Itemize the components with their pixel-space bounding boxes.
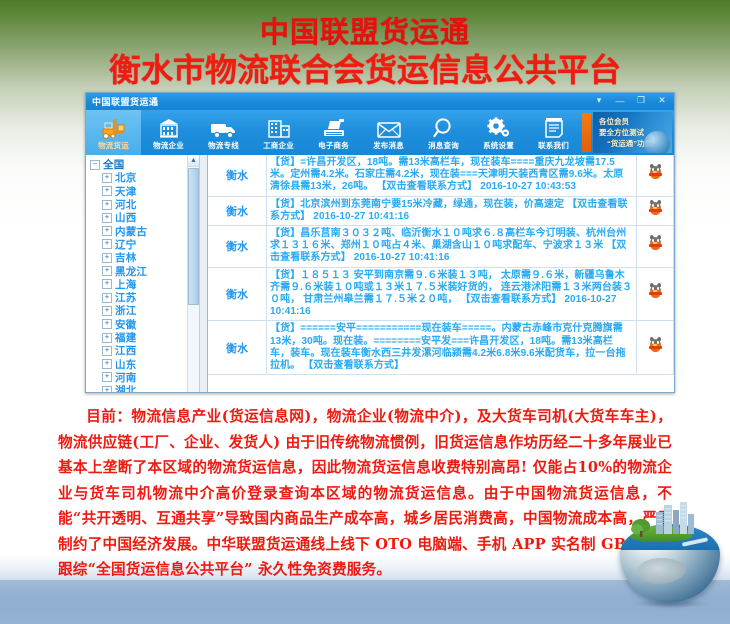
tree-node-jilin[interactable]: +吉林 — [89, 251, 199, 264]
message-datetime: 2016-10-27 10:41:16 — [313, 211, 409, 222]
qq-icon[interactable] — [649, 165, 662, 180]
row-contact[interactable] — [637, 267, 674, 321]
row-contact[interactable] — [637, 196, 674, 225]
tree-toggle-icon[interactable]: + — [102, 239, 112, 249]
qq-icon[interactable] — [649, 236, 662, 251]
scroll-up-icon[interactable]: ▲ — [188, 155, 199, 167]
tree-node-heilongjiang[interactable]: +黑龙江 — [89, 264, 199, 277]
toolbar-item-logistics-company[interactable]: 物流企业 — [141, 110, 196, 155]
truck-icon — [210, 115, 238, 139]
freight-message-grid: 衡水 【货】=许昌开发区，18吨。需13米高栏车，现在装车====重庆九龙坡需1… — [208, 155, 674, 392]
table-row[interactable]: 衡水 【货】======安平===========现在装车=====。内蒙古赤峰… — [208, 321, 674, 375]
table-row[interactable]: 衡水 【货】昌乐莒南３０３２吨、临沂衡水１０吨求６.８高栏车今订明装、杭州台州求… — [208, 226, 674, 268]
headline-line-1: 中国联盟货运通 — [0, 14, 730, 50]
paragraph-text: 目前：物流信息产业(货运信息网)，物流企业(物流中介)，及大货车司机(大货车车主… — [58, 408, 672, 578]
row-message: 【货】１８５１３ 安平到南京需９.６米装１３吨， 太原需９.６米，新疆乌鲁木齐需… — [267, 267, 637, 321]
row-city: 衡水 — [208, 226, 267, 268]
envelope-icon — [376, 115, 402, 139]
toolbar-item-logistics-line[interactable]: 物流专线 — [196, 110, 251, 155]
qq-icon[interactable] — [649, 338, 662, 353]
toolbar-label: 联系我们 — [538, 140, 569, 151]
toolbar-orange-divider — [582, 113, 591, 152]
main-toolbar: 物流货运 物流企业 — [86, 110, 674, 155]
window-body: − 全国 +北京 +天津 +河北 +山西 +内蒙古 +辽宁 +吉林 +黑龙江 +… — [86, 155, 674, 392]
window-title: 中国联盟货运通 — [92, 95, 159, 108]
row-city: 衡水 — [208, 267, 267, 321]
toolbar-label: 工商企业 — [263, 140, 294, 151]
tree-node-hubei[interactable]: +湖北 — [89, 384, 199, 392]
tree-scrollbar[interactable]: ▲ — [187, 155, 199, 392]
ecommerce-icon — [321, 115, 347, 139]
tree-node-root[interactable]: − 全国 — [89, 158, 199, 171]
toolbar-label: 物流货运 — [98, 140, 129, 151]
page-title: 中国联盟货运通 衡水市物流联合会货运信息公共平台 — [0, 14, 730, 90]
toolbar-item-system-settings[interactable]: 系统设置 — [471, 110, 526, 155]
row-message: 【货】北京滨州到东莞南宁要15米冷藏，绿通，现在装，价高速定 【双击查看联系方式… — [267, 196, 637, 225]
minimize-icon[interactable]: — — [610, 93, 630, 108]
city-skyline-icon — [654, 502, 704, 534]
row-message: 【货】=许昌开发区，18吨。需13米高栏车，现在装车====重庆九龙坡需17.5… — [267, 155, 637, 196]
application-window: 中国联盟货运通 ▾ — ❐ ✕ 物流货运 — [85, 92, 675, 393]
tree-node-fujian[interactable]: +福建 — [89, 331, 199, 344]
tree-node-hebei[interactable]: +河北 — [89, 198, 199, 211]
tree-toggle-icon[interactable]: + — [102, 306, 112, 316]
region-tree: − 全国 +北京 +天津 +河北 +山西 +内蒙古 +辽宁 +吉林 +黑龙江 +… — [86, 155, 200, 392]
row-contact[interactable] — [637, 321, 674, 375]
tree-node-shandong[interactable]: +山东 — [89, 357, 199, 370]
tree-toggle-icon[interactable]: + — [102, 333, 112, 343]
tree-toggle-icon[interactable]: + — [102, 186, 112, 196]
tree-toggle-icon[interactable]: + — [102, 386, 112, 392]
headline-line-2: 衡水市物流联合会货运信息公共平台 — [0, 50, 730, 90]
message-datetime: 2016-10-27 10:41:16 — [354, 252, 450, 263]
tree-node-henan[interactable]: +河南 — [89, 371, 199, 384]
tree-toggle-icon[interactable]: + — [102, 213, 112, 223]
qq-icon[interactable] — [649, 284, 662, 299]
dropdown-icon[interactable]: ▾ — [589, 93, 609, 108]
tree-node-tianjin[interactable]: +天津 — [89, 185, 199, 198]
tree-node-zhejiang[interactable]: +浙江 — [89, 304, 199, 317]
tree-node-jiangxi[interactable]: +江西 — [89, 344, 199, 357]
globe-landmass — [638, 558, 686, 584]
message-datetime: 2016-10-27 10:43:53 — [480, 181, 576, 192]
tree-toggle-icon[interactable]: + — [102, 266, 112, 276]
tree-toggle-icon[interactable]: + — [102, 253, 112, 263]
tree-toggle-icon[interactable]: + — [102, 279, 112, 289]
maximize-icon[interactable]: ❐ — [631, 93, 651, 108]
row-city: 衡水 — [208, 196, 267, 225]
magnifier-icon — [432, 115, 456, 139]
scrollbar-thumb[interactable] — [188, 168, 199, 305]
toolbar-item-publish-message[interactable]: 发布消息 — [361, 110, 416, 155]
tree-node-liaoning[interactable]: +辽宁 — [89, 238, 199, 251]
window-controls: ▾ — ❐ ✕ — [589, 93, 672, 108]
tree-toggle-icon[interactable]: + — [102, 359, 112, 369]
promotional-paragraph: 目前：物流信息产业(货运信息网)，物流企业(物流中介)，及大货车司机(大货车车主… — [58, 404, 672, 583]
panel-splitter[interactable] — [200, 155, 208, 392]
row-message: 【货】昌乐莒南３０３２吨、临沂衡水１０吨求６.８高栏车今订明装、杭州台州求１３１… — [267, 226, 637, 268]
toolbar-item-industrial-company[interactable]: 工商企业 — [251, 110, 306, 155]
toolbar-label: 电子商务 — [318, 140, 349, 151]
tree-node-inner-mongolia[interactable]: +内蒙古 — [89, 224, 199, 237]
message-text: 【货】======安平===========现在装车=====。内蒙古赤峰市克什… — [270, 323, 626, 371]
tree-toggle-icon[interactable]: + — [102, 372, 112, 382]
row-city: 衡水 — [208, 155, 267, 196]
tree-node-beijing[interactable]: +北京 — [89, 171, 199, 184]
toolbar-item-message-query[interactable]: 消息查询 — [416, 110, 471, 155]
toolbar-item-contact-us[interactable]: 联系我们 — [526, 110, 581, 155]
toolbar-label: 物流专线 — [208, 140, 239, 151]
earth-globe-graphic — [616, 498, 724, 606]
tree-toggle-icon[interactable]: + — [102, 293, 112, 303]
tree-node-shanxi[interactable]: +山西 — [89, 211, 199, 224]
tree-graphic-icon — [630, 518, 652, 538]
tree-node-jiangsu[interactable]: +江苏 — [89, 291, 199, 304]
table-row[interactable]: 衡水 【货】=许昌开发区，18吨。需13米高栏车，现在装车====重庆九龙坡需1… — [208, 155, 674, 196]
tree-node-shanghai[interactable]: +上海 — [89, 278, 199, 291]
toolbar-label: 系统设置 — [483, 140, 514, 151]
row-contact[interactable] — [637, 226, 674, 268]
row-city: 衡水 — [208, 321, 267, 375]
toolbar-label: 物流企业 — [153, 140, 184, 151]
tree-toggle-icon[interactable]: + — [102, 226, 112, 236]
close-icon[interactable]: ✕ — [652, 93, 672, 108]
office-icon — [266, 115, 292, 139]
tree-toggle-icon[interactable]: + — [102, 346, 112, 356]
document-icon — [542, 115, 566, 139]
forklift-icon — [101, 115, 127, 139]
tree-toggle-icon[interactable]: + — [102, 173, 112, 183]
globe-shadow — [632, 599, 710, 608]
promo-banner[interactable]: 各位会员 要全方位测试 “货运通”功能! — [593, 112, 672, 153]
row-contact[interactable] — [637, 155, 674, 196]
toolbar-item-ecommerce[interactable]: 电子商务 — [306, 110, 361, 155]
table-row[interactable]: 衡水 【货】１８５１３ 安平到南京需９.６米装１３吨， 太原需９.６米，新疆乌鲁… — [208, 267, 674, 321]
promo-banner-line-2: 要全方位测试 — [599, 127, 644, 138]
row-message: 【货】======安平===========现在装车=====。内蒙古赤峰市克什… — [267, 321, 637, 375]
tree-node-label: 湖北 — [115, 383, 136, 392]
toolbar-item-logistics-freight[interactable]: 物流货运 — [86, 110, 141, 155]
tree-toggle-icon[interactable]: − — [90, 160, 100, 170]
building-icon — [157, 115, 181, 139]
toolbar-label: 消息查询 — [428, 140, 459, 151]
table-row[interactable]: 衡水 【货】北京滨州到东莞南宁要15米冷藏，绿通，现在装，价高速定 【双击查看联… — [208, 196, 674, 225]
tree-toggle-icon[interactable]: + — [102, 200, 112, 210]
globe-icon — [644, 131, 670, 153]
window-titlebar: 中国联盟货运通 ▾ — ❐ ✕ — [86, 93, 674, 110]
tree-node-anhui[interactable]: +安徽 — [89, 318, 199, 331]
toolbar-label: 发布消息 — [373, 140, 404, 151]
promo-banner-line-1: 各位会员 — [599, 116, 629, 127]
gear-icon — [486, 115, 512, 139]
qq-icon[interactable] — [649, 201, 662, 216]
tree-toggle-icon[interactable]: + — [102, 319, 112, 329]
